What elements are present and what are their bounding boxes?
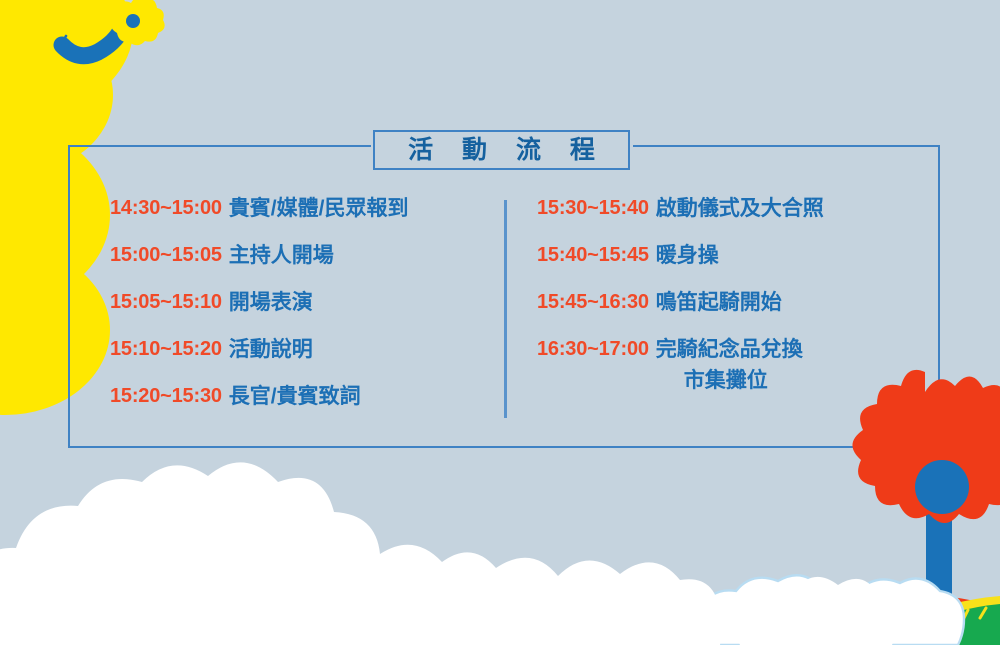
- schedule-row: 15:00~15:05 主持人開場: [110, 240, 490, 271]
- column-divider: [504, 200, 507, 418]
- schedule-desc: 貴賓/媒體/民眾報到: [229, 193, 409, 224]
- cloud-outline-row: [0, 555, 964, 645]
- schedule-time: 15:40~15:45: [537, 240, 649, 271]
- schedule-row: 15:10~15:20 活動說明: [110, 334, 490, 365]
- schedule-row: 15:45~16:30 鳴笛起騎開始: [537, 287, 937, 318]
- section-title-box: 活 動 流 程: [373, 130, 630, 170]
- schedule-time: 15:05~15:10: [110, 287, 222, 318]
- schedule-time: 15:20~15:30: [110, 381, 222, 412]
- schedule-row: 14:30~15:00 貴賓/媒體/民眾報到: [110, 193, 490, 224]
- schedule-row: 15:05~15:10 開場表演: [110, 287, 490, 318]
- schedule-desc: 長官/貴賓致詞: [229, 381, 361, 412]
- schedule-time: 15:30~15:40: [537, 193, 649, 224]
- schedule-desc-line2: 市集攤位: [649, 365, 803, 396]
- schedule-row: 15:40~15:45 暖身操: [537, 240, 937, 271]
- cloud-bank-icon: [0, 462, 899, 645]
- schedule-time: 15:45~16:30: [537, 287, 649, 318]
- schedule-time: 15:00~15:05: [110, 240, 222, 271]
- schedule-desc: 鳴笛起騎開始: [656, 287, 782, 318]
- schedule-row: 15:20~15:30 長官/貴賓致詞: [110, 381, 490, 412]
- schedule-row: 16:30~17:00 完騎紀念品兌換 市集攤位: [537, 334, 937, 396]
- blue-zigzag: [930, 612, 1000, 624]
- page-title: 活 動 流 程: [397, 138, 606, 163]
- green-hills-icon: [0, 580, 1000, 645]
- schedule-desc: 開場表演: [229, 287, 313, 318]
- schedule-column-left: 14:30~15:00 貴賓/媒體/民眾報到 15:00~15:05 主持人開場…: [110, 193, 490, 428]
- schedule-row: 15:30~15:40 啟動儀式及大合照: [537, 193, 937, 224]
- schedule-column-right: 15:30~15:40 啟動儀式及大合照 15:40~15:45 暖身操 15:…: [537, 193, 937, 412]
- schedule-time: 15:10~15:20: [110, 334, 222, 365]
- schedule-desc: 啟動儀式及大合照: [656, 193, 824, 224]
- schedule-time: 14:30~15:00: [110, 193, 222, 224]
- red-mound: [790, 595, 1000, 645]
- schedule-desc-wrap: 完騎紀念品兌換 市集攤位: [649, 334, 803, 396]
- schedule-desc: 主持人開場: [229, 240, 334, 271]
- poster-canvas: 活 動 流 程 14:30~15:00 貴賓/媒體/民眾報到 15:00~15:…: [0, 0, 1000, 645]
- schedule-desc: 完騎紀念品兌換: [656, 338, 803, 361]
- schedule-time: 16:30~17:00: [537, 334, 649, 365]
- schedule-desc: 活動說明: [229, 334, 313, 365]
- schedule-desc: 暖身操: [656, 240, 719, 271]
